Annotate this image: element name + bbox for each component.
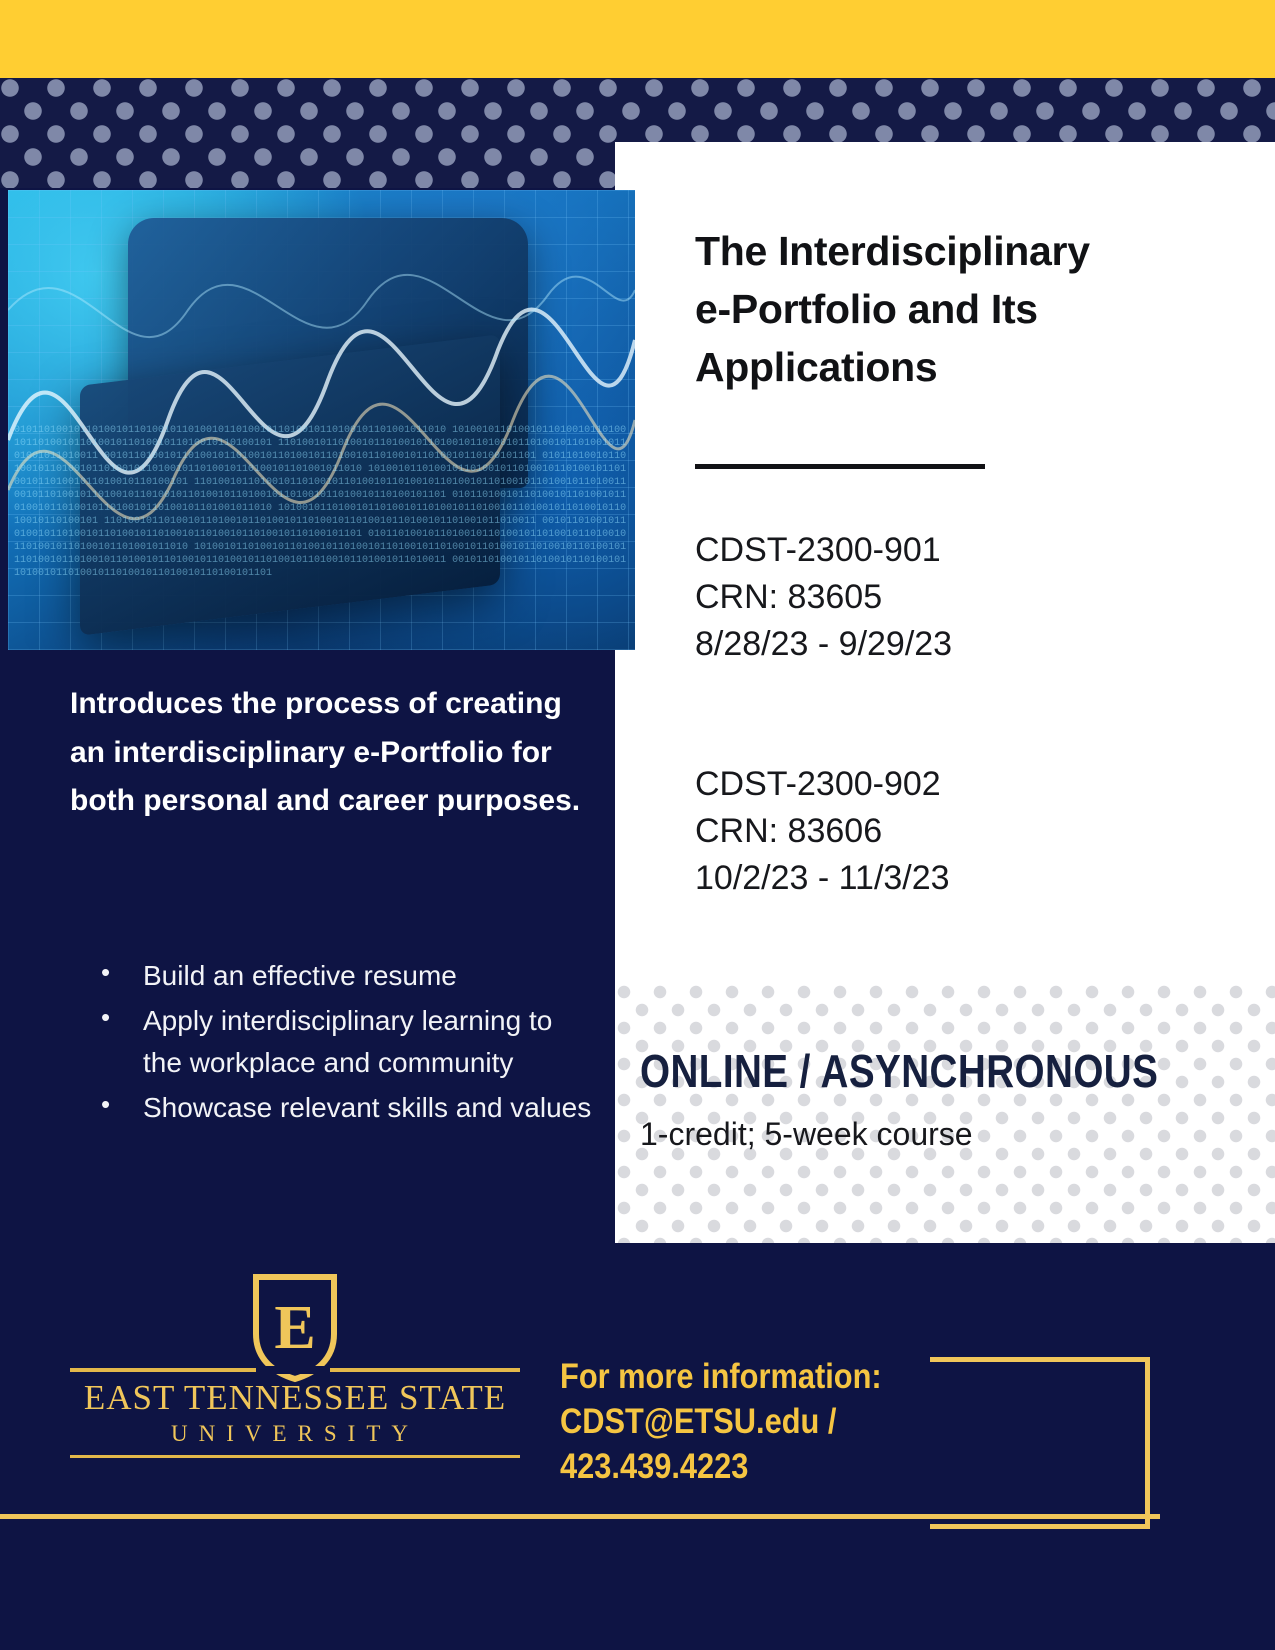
logo-name-line-2: UNIVERSITY [70, 1421, 520, 1447]
list-item: Build an effective resume [95, 955, 595, 998]
course-section-902: CDST-2300-902 CRN: 83606 10/2/23 - 11/3/… [695, 761, 1215, 902]
course-crn: CRN: 83605 [695, 574, 1215, 621]
white-content-panel: The Interdisciplinary e-Portfolio and It… [615, 142, 1275, 1243]
modality-subtext: 1-credit; 5-week course [640, 1116, 1260, 1153]
list-item: Apply interdisciplinary learning to the … [95, 1000, 595, 1085]
page-title-line-3: Applications [695, 338, 1205, 396]
svg-text:E: E [274, 1294, 315, 1362]
logo-rule-bottom [70, 1455, 520, 1458]
flyer-page: The Interdisciplinary e-Portfolio and It… [0, 0, 1275, 1650]
logo-rule-top [70, 1368, 520, 1372]
course-dates: 10/2/23 - 11/3/23 [695, 855, 1215, 902]
course-dates: 8/28/23 - 9/29/23 [695, 621, 1215, 668]
bottom-navy-strip [0, 1614, 1275, 1650]
modality-heading: ONLINE / ASYNCHRONOUS [640, 1044, 1161, 1098]
wordmark-row: EAST TENNESSEE STATE UNIVERSITY [70, 1368, 520, 1458]
page-title: The Interdisciplinary e-Portfolio and It… [695, 222, 1205, 397]
panel-dot-pattern [615, 983, 1275, 1243]
page-title-line-2: e-Portfolio and Its [695, 280, 1205, 338]
logo-name-line-1: EAST TENNESSEE STATE [84, 1378, 506, 1417]
lead-paragraph: Introduces the process of creating an in… [70, 680, 590, 826]
gold-accent-frame [930, 1357, 1150, 1529]
course-section-901: CDST-2300-901 CRN: 83605 8/28/23 - 9/29/… [695, 527, 1215, 668]
course-code: CDST-2300-902 [695, 761, 1215, 808]
title-divider [695, 464, 985, 469]
gold-accent-bottom-rule [0, 1514, 1160, 1519]
logo-wordmark: EAST TENNESSEE STATE UNIVERSITY [70, 1378, 520, 1447]
hero-image: 0101101001011010010110100101101001011010… [8, 190, 635, 650]
hero-binary-text: 0101101001011010010110100101101001011010… [8, 420, 635, 650]
feature-bullet-list: Build an effective resume Apply interdis… [95, 955, 595, 1131]
course-crn: CRN: 83606 [695, 808, 1215, 855]
top-gold-bar [0, 0, 1275, 78]
list-item: Showcase relevant skills and values [95, 1087, 595, 1130]
course-code: CDST-2300-901 [695, 527, 1215, 574]
page-title-line-1: The Interdisciplinary [695, 222, 1205, 280]
etsu-logo: E EAST TENNESSEE STATE UNIVERSITY [70, 1272, 520, 1458]
